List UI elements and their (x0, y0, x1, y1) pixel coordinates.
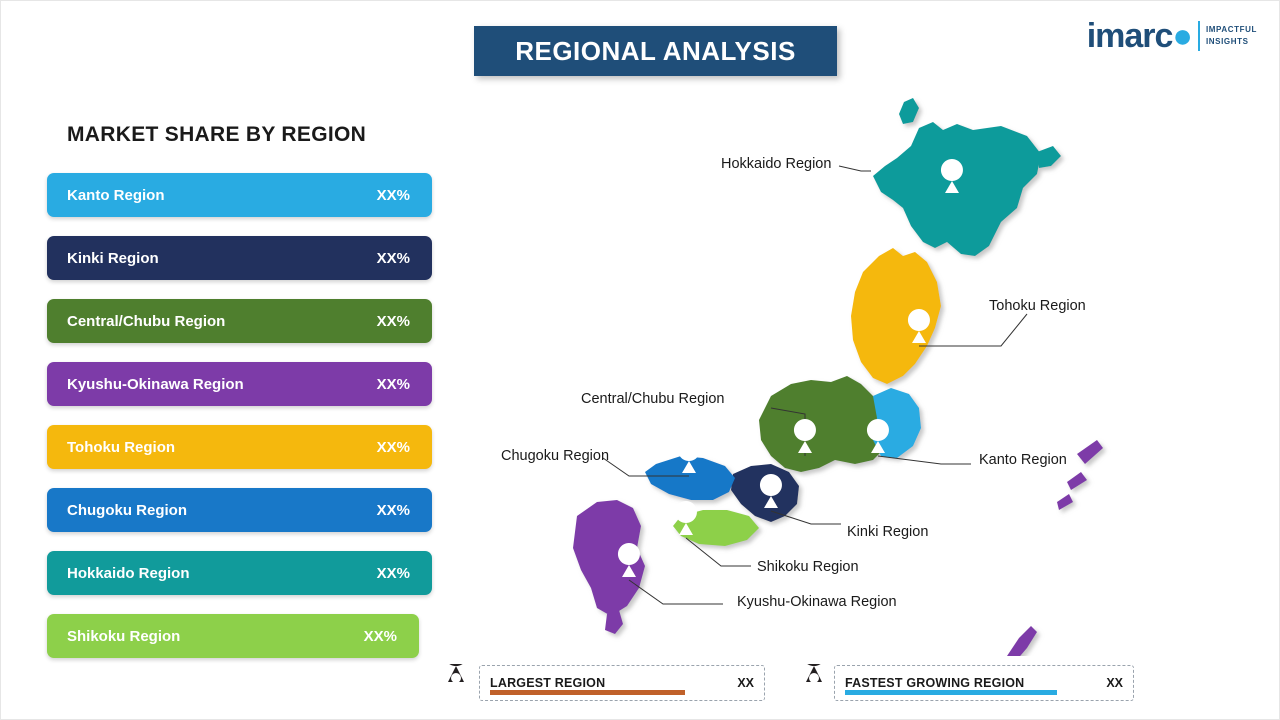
fastest-region-label: FASTEST GROWING REGION (845, 676, 1024, 690)
logo-divider (1198, 21, 1200, 51)
table-row: Central/Chubu Region XX% (47, 299, 432, 343)
map-label-hokkaido: Hokkaido Region (721, 156, 831, 172)
fastest-region-legend: FASTEST GROWING REGION XX (834, 665, 1134, 701)
region-label: Central/Chubu Region (67, 313, 225, 330)
market-share-heading: MARKET SHARE BY REGION (67, 123, 366, 147)
region-value: XX% (364, 628, 397, 645)
region-value: XX% (377, 439, 410, 456)
map-region-okinawa-small1 (1077, 440, 1103, 464)
region-value: XX% (377, 250, 410, 267)
map-region-hokkaido (873, 122, 1041, 256)
largest-region-bar (490, 690, 685, 695)
region-label: Chugoku Region (67, 502, 187, 519)
region-label: Kanto Region (67, 187, 165, 204)
region-label: Hokkaido Region (67, 565, 190, 582)
region-label: Kyushu-Okinawa Region (67, 376, 244, 393)
region-value: XX% (377, 187, 410, 204)
pin-icon (1003, 539, 1025, 573)
map-label-kanto: Kanto Region (979, 452, 1067, 468)
fastest-region-bar (845, 690, 1057, 695)
logo-wordmark: imarc● (1087, 19, 1192, 53)
page-title: REGIONAL ANALYSIS (515, 36, 796, 67)
map-label-kyushu-okinawa: Kyushu-Okinawa Region (737, 594, 897, 610)
map-region-central-chubu (759, 376, 887, 472)
region-value: XX% (377, 313, 410, 330)
largest-region-label: LARGEST REGION (490, 676, 605, 690)
map-region-hokkaido-tip (899, 98, 919, 124)
map-region-okinawa-small2 (1067, 472, 1087, 490)
map-region-okinawa (1007, 626, 1037, 656)
map-label-chugoku: Chugoku Region (501, 448, 609, 464)
region-value: XX% (377, 565, 410, 582)
logo-tagline-line1: IMPACTFUL (1206, 24, 1257, 36)
japan-region-map: Hokkaido Region Tohoku Region Central/Ch… (441, 96, 1261, 656)
region-value: XX% (377, 376, 410, 393)
map-label-central-chubu: Central/Chubu Region (581, 391, 724, 407)
region-value: XX% (377, 502, 410, 519)
table-row: Kyushu-Okinawa Region XX% (47, 362, 432, 406)
map-label-shikoku: Shikoku Region (757, 559, 859, 575)
slide-root: REGIONAL ANALYSIS imarc● IMPACTFUL INSIG… (0, 0, 1280, 720)
region-label: Kinki Region (67, 250, 159, 267)
logo-tagline-line2: INSIGHTS (1206, 36, 1257, 48)
logo-tagline: IMPACTFUL INSIGHTS (1206, 24, 1257, 47)
largest-region-pin-icon (439, 664, 473, 710)
table-row: Tohoku Region XX% (47, 425, 432, 469)
map-label-tohoku: Tohoku Region (989, 298, 1086, 314)
page-title-banner: REGIONAL ANALYSIS (474, 26, 837, 76)
region-label: Shikoku Region (67, 628, 180, 645)
table-row: Hokkaido Region XX% (47, 551, 432, 595)
fastest-region-pin-icon (797, 664, 831, 710)
map-region-hokkaido-east (1037, 146, 1061, 168)
region-label: Tohoku Region (67, 439, 175, 456)
table-row: Kanto Region XX% (47, 173, 432, 217)
map-region-chugoku (645, 456, 735, 500)
table-row: Shikoku Region XX% (47, 614, 419, 658)
table-row: Kinki Region XX% (47, 236, 432, 280)
map-region-okinawa-small3 (1057, 494, 1073, 510)
table-row: Chugoku Region XX% (47, 488, 432, 532)
map-label-kinki: Kinki Region (847, 524, 928, 540)
largest-region-legend: LARGEST REGION XX (479, 665, 765, 701)
fastest-region-value: XX (1106, 676, 1123, 690)
imarc-logo: imarc● IMPACTFUL INSIGHTS (1087, 19, 1257, 53)
market-share-bar-list: Kanto Region XX% Kinki Region XX% Centra… (47, 173, 439, 677)
largest-region-value: XX (737, 676, 754, 690)
